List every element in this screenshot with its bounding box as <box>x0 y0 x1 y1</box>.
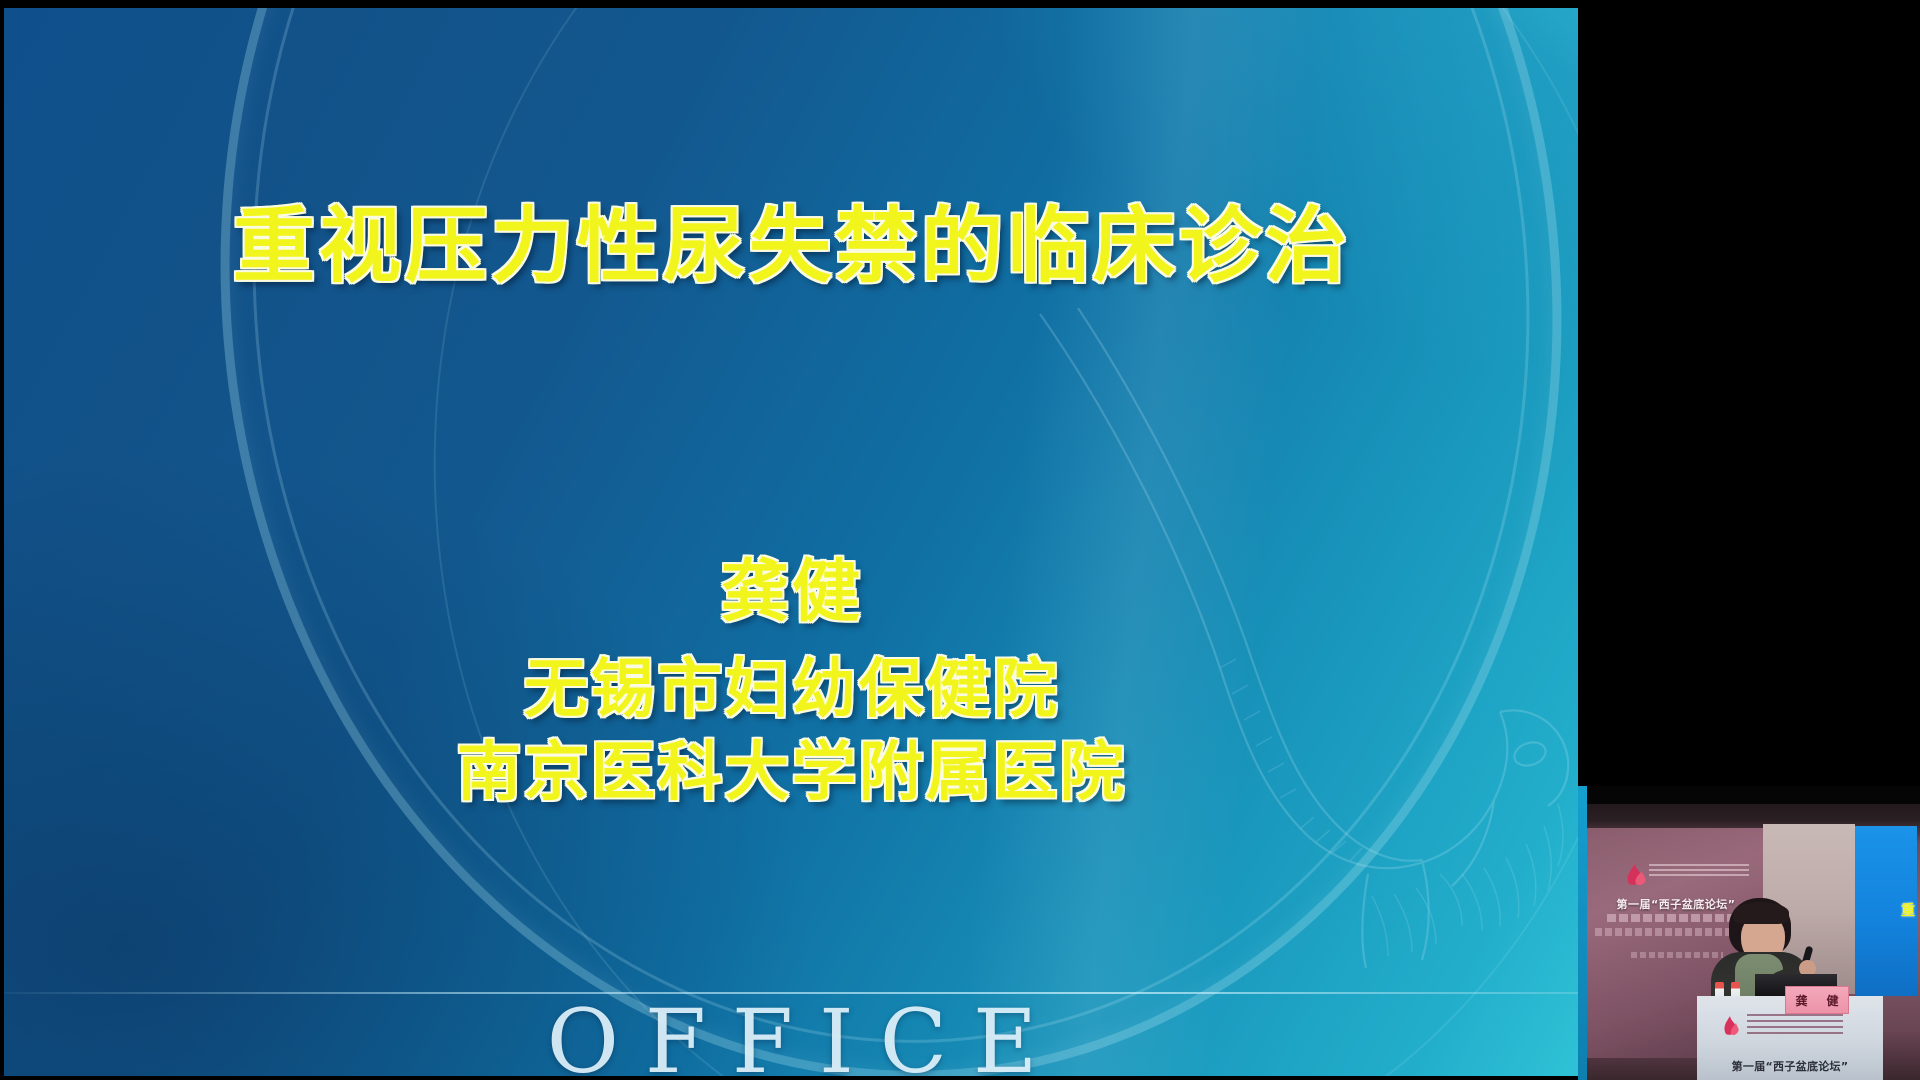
presentation-slide: 重视压力性尿失禁的临床诊治 龚健 无锡市妇幼保健院 南京医科大学附属医院 OFF… <box>4 8 1580 1076</box>
pip-video-frame: 第一届“西子盆底论坛” 重 <box>1587 804 1920 1080</box>
projection-screen-text: 重 <box>1855 900 1915 920</box>
arc-swoosh-thin-icon <box>397 8 1580 1076</box>
banner-header-lines <box>1649 864 1749 876</box>
right-black-bleed <box>1578 8 1920 786</box>
slide-title: 重视压力性尿失禁的临床诊治 <box>4 204 1580 291</box>
podium-text-lines <box>1747 1014 1843 1034</box>
pip-left-screen-bleed <box>1578 786 1587 1080</box>
screen-capture-stage: 重视压力性尿失禁的临床诊治 龚健 无锡市妇幼保健院 南京医科大学附属医院 OFF… <box>0 0 1920 1080</box>
nameplate-given: 健 <box>1826 992 1838 1009</box>
podium-caption-text: 第一届“西子盆底论坛” <box>1697 1058 1883 1074</box>
pip-top-letterbox <box>1587 786 1920 804</box>
speaker-nameplate: 龚 健 <box>1785 986 1849 1014</box>
arc-swoosh-outer-icon <box>143 8 1580 1076</box>
presenter-block: 龚健 无锡市妇幼保健院 南京医科大学附属医院 <box>4 553 1580 816</box>
speaker-fringe <box>1733 902 1789 924</box>
pip-camera-feed[interactable]: 第一届“西子盆底论坛” 重 <box>1578 786 1920 1080</box>
affiliation-line-1: 无锡市妇幼保健院 <box>4 649 1580 732</box>
bottom-black-bleed <box>0 1076 1578 1080</box>
light-glow-band <box>670 8 1580 1076</box>
podium-logo-icon <box>1721 1014 1741 1036</box>
affiliation-line-2: 南京医科大学附属医院 <box>4 732 1580 815</box>
arc-swoosh-inner-icon <box>179 8 1580 1076</box>
forum-logo-icon <box>1623 862 1649 886</box>
slide-vignette <box>4 8 1580 1076</box>
presenter-name: 龚健 <box>4 553 1580 633</box>
office-watermark: OFFICE <box>4 998 1580 1076</box>
projection-screen: 重 <box>1855 826 1917 996</box>
nameplate-surname: 龚 <box>1795 992 1807 1009</box>
